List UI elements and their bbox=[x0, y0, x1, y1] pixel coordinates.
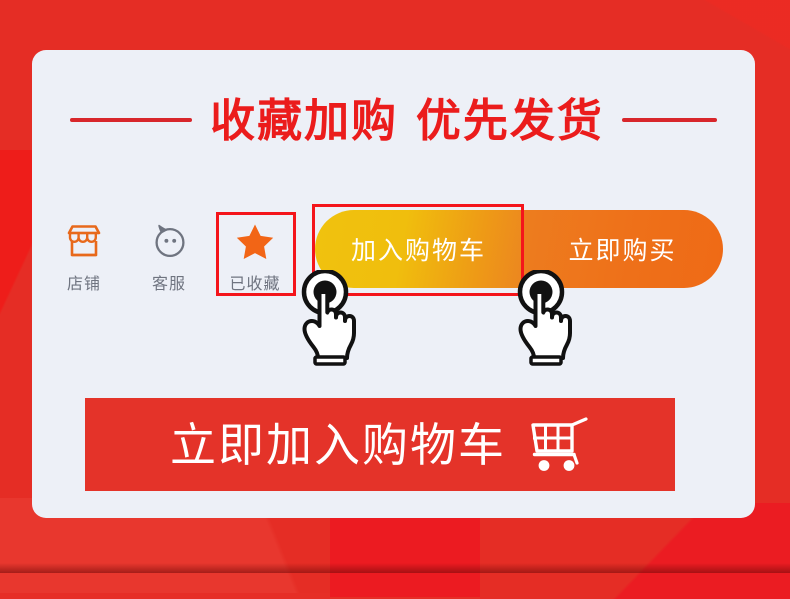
headline-row: 收藏加购 优先发货 bbox=[32, 70, 755, 170]
buy-now-button[interactable]: 立即购买 bbox=[522, 210, 723, 288]
customer-service-icon bbox=[150, 218, 188, 264]
shop-button[interactable]: 店铺 bbox=[45, 212, 123, 304]
customer-service-button[interactable]: 客服 bbox=[130, 212, 208, 304]
headline-rule-right bbox=[622, 118, 717, 122]
action-bar: 店铺 客服 已收藏 bbox=[32, 208, 755, 318]
shop-icon bbox=[65, 218, 103, 264]
star-icon bbox=[235, 218, 275, 264]
add-to-cart-button-label: 加入购物车 bbox=[351, 231, 486, 267]
page-title: 收藏加购 优先发货 bbox=[210, 98, 604, 143]
favorite-button-label: 已收藏 bbox=[229, 270, 280, 294]
customer-service-button-label: 客服 bbox=[152, 270, 186, 294]
purchase-button-group: 加入购物车 立即购买 bbox=[315, 210, 723, 288]
headline-rule-left bbox=[70, 118, 192, 122]
cta-add-to-cart-banner[interactable]: 立即加入购物车 bbox=[85, 398, 675, 491]
shopping-cart-icon bbox=[528, 417, 590, 473]
promo-card: 收藏加购 优先发货 店铺 bbox=[32, 50, 755, 518]
cta-banner-label: 立即加入购物车 bbox=[170, 422, 506, 468]
shop-button-label: 店铺 bbox=[67, 270, 101, 294]
add-to-cart-button[interactable]: 加入购物车 bbox=[315, 210, 522, 288]
decorative-bottom-shadow bbox=[0, 563, 790, 573]
favorite-button[interactable]: 已收藏 bbox=[216, 212, 294, 304]
buy-now-button-label: 立即购买 bbox=[568, 231, 676, 267]
